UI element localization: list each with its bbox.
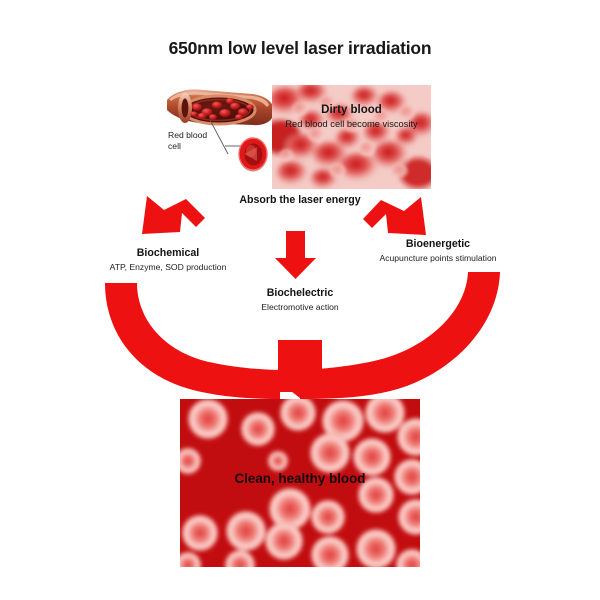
branch-biochemical-heading: Biochemical [48, 247, 288, 259]
branch-biochemical-subtext: ATP, Enzyme, SOD production [48, 262, 288, 272]
branch-biochelectric: Biochelectric Electromotive action [180, 287, 420, 312]
branch-biochelectric-subtext: Electromotive action [180, 302, 420, 312]
diagram-canvas: 650nm low level laser irradiation [0, 0, 600, 600]
arrow-down-left-icon [142, 196, 205, 234]
clean-blood-panel: Clean, healthy blood [180, 399, 420, 567]
branch-bioenergetic-heading: Bioenergetic [318, 238, 558, 250]
branch-biochemical: Biochemical ATP, Enzyme, SOD production [48, 247, 288, 272]
branch-bioenergetic-subtext: Acupuncture points stimulation [318, 253, 558, 263]
arrow-down-right-icon [363, 197, 426, 235]
clean-blood-label: Clean, healthy blood [180, 471, 420, 486]
branch-bioenergetic: Bioenergetic Acupuncture points stimulat… [318, 238, 558, 263]
branch-biochelectric-heading: Biochelectric [180, 287, 420, 299]
